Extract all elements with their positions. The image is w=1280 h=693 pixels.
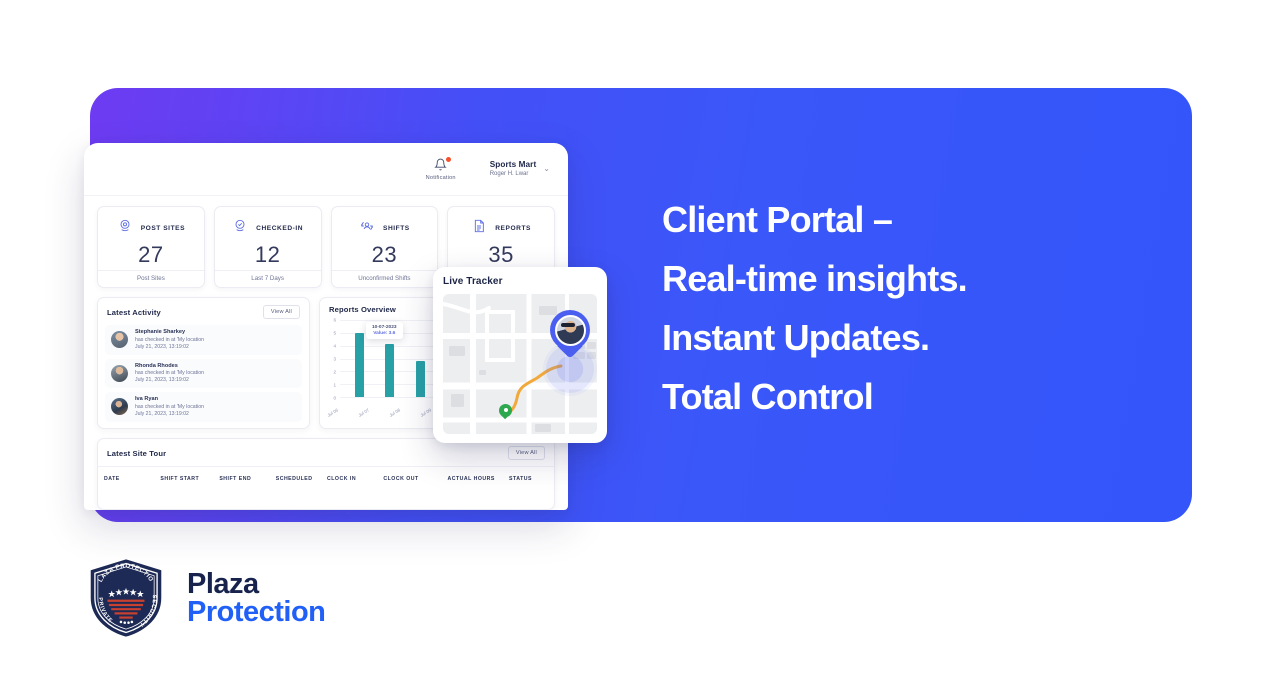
account-user: Roger H. Lwar	[490, 171, 537, 179]
avatar	[111, 331, 128, 348]
plaza-protection-shield-icon: PLAZA PROTECTION PRIVATE SECURITY	[84, 556, 168, 640]
brand-line-1: Plaza	[187, 570, 325, 598]
document-icon	[471, 218, 487, 239]
chart-tooltip: 10-07-2023 Value: 3.6	[366, 322, 403, 339]
account-name: Sports Mart	[490, 160, 537, 170]
y-axis-tick: 5	[333, 330, 336, 335]
latest-site-tour-panel: Latest Site Tour View All DATESHIFT STAR…	[97, 438, 555, 510]
list-item[interactable]: Rhonda Rhodes has checked in at 'My loca…	[105, 359, 302, 389]
activity-name: Rhonda Rhodes	[135, 363, 204, 371]
site-tour-column-header: CLOCK OUT	[383, 476, 447, 482]
site-tour-column-header: STATUS	[509, 476, 550, 482]
stat-footer: Unconfirmed Shifts	[332, 270, 438, 287]
location-pin-icon	[117, 218, 133, 239]
notification-badge-dot	[445, 156, 452, 163]
stat-footer: Last 7 Days	[215, 270, 321, 287]
stat-title: REPORTS	[495, 225, 531, 232]
latest-activity-panel: Latest Activity View All Stephanie Shark…	[97, 297, 310, 429]
x-axis-tick: Jul 06	[326, 407, 339, 417]
latest-activity-title: Latest Activity	[107, 308, 161, 317]
activity-time: July 21, 2023, 13:19:02	[135, 411, 204, 418]
site-tour-column-header: CLOCK IN	[327, 476, 383, 482]
activity-list: Stephanie Sharkey has checked in at 'My …	[98, 325, 309, 422]
brand-lockup: PLAZA PROTECTION PRIVATE SECURITY	[84, 556, 325, 640]
site-tour-column-header: SHIFT END	[219, 476, 275, 482]
site-tour-table-header: DATESHIFT STARTSHIFT ENDSCHEDULEDCLOCK I…	[98, 466, 554, 482]
live-tracker-title: Live Tracker	[443, 276, 597, 287]
y-axis-tick: 2	[333, 369, 336, 374]
tooltip-date: 10-07-2023	[372, 325, 397, 330]
stat-value: 27	[138, 242, 163, 268]
stat-card-post-sites[interactable]: POST SITES 27 Post Sites	[97, 206, 205, 288]
chevron-down-icon[interactable]: ⌄	[543, 165, 550, 173]
y-axis-tick: 3	[333, 357, 336, 362]
chart-bar[interactable]	[385, 344, 394, 397]
tooltip-value: Value: 3.6	[372, 331, 397, 336]
officer-avatar-icon	[555, 315, 586, 346]
reports-overview-title: Reports Overview	[329, 305, 396, 314]
stat-value: 35	[488, 242, 513, 268]
x-axis-tick: Jul 07	[357, 407, 370, 417]
headline-line-1: Client Portal –	[662, 190, 1132, 249]
live-tracker-card: Live Tracker	[433, 267, 607, 443]
stat-title: SHIFTS	[383, 225, 410, 232]
sunglasses-icon	[561, 323, 575, 327]
dashboard-topbar: Notification Sports Mart Roger H. Lwar ⌄	[84, 143, 568, 196]
x-axis-tick: Jul 09	[419, 407, 432, 417]
stat-value: 12	[255, 242, 280, 268]
avatar	[111, 398, 128, 415]
site-tour-column-header: ACTUAL HOURS	[447, 476, 509, 482]
headline-line-3: Instant Updates.	[662, 308, 1132, 367]
site-tour-column-header: DATE	[104, 476, 160, 482]
y-axis-tick: 0	[333, 396, 336, 401]
notification-label: Notification	[418, 175, 464, 181]
y-axis-tick: 4	[333, 343, 336, 348]
bell-icon	[418, 157, 464, 173]
tracker-map[interactable]	[443, 294, 597, 434]
y-axis-tick: 1	[333, 382, 336, 387]
list-item[interactable]: Stephanie Sharkey has checked in at 'My …	[105, 325, 302, 355]
chart-bar[interactable]	[416, 361, 425, 397]
activity-name: Stephanie Sharkey	[135, 329, 204, 337]
check-pin-icon	[232, 218, 248, 239]
y-axis-tick: 6	[333, 318, 336, 323]
green-destination-pin-icon[interactable]	[499, 404, 512, 421]
hero-headline: Client Portal – Real-time insights. Inst…	[662, 190, 1132, 426]
stat-card-shifts[interactable]: SHIFTS 23 Unconfirmed Shifts	[331, 206, 439, 288]
headline-line-2: Real-time insights.	[662, 249, 1132, 308]
avatar	[111, 365, 128, 382]
stat-title: POST SITES	[141, 225, 185, 232]
activity-desc: has checked in at 'My location	[135, 370, 204, 377]
site-tour-column-header: SCHEDULED	[276, 476, 327, 482]
activity-desc: has checked in at 'My location	[135, 404, 204, 411]
user-shift-icon	[359, 218, 375, 239]
chart-bar[interactable]	[355, 333, 364, 397]
list-item[interactable]: Iva Ryan has checked in at 'My location …	[105, 392, 302, 422]
chart-bar-cell[interactable]	[405, 320, 436, 397]
brand-line-2: Protection	[187, 598, 325, 626]
stat-card-checked-in[interactable]: CHECKED-IN 12 Last 7 Days	[214, 206, 322, 288]
activity-time: July 21, 2023, 13:19:02	[135, 377, 204, 384]
brand-text: Plaza Protection	[187, 570, 325, 627]
latest-site-tour-title: Latest Site Tour	[107, 449, 166, 458]
stat-value: 23	[372, 242, 397, 268]
stat-title: CHECKED-IN	[256, 225, 303, 232]
site-tour-column-header: SHIFT START	[160, 476, 219, 482]
stat-footer: Post Sites	[98, 270, 204, 287]
account-menu[interactable]: Sports Mart Roger H. Lwar ⌄	[490, 160, 550, 179]
screenshot-root: Notification Sports Mart Roger H. Lwar ⌄…	[0, 0, 1280, 693]
officer-avatar-pin[interactable]	[550, 310, 590, 358]
activity-time: July 21, 2023, 13:19:02	[135, 344, 204, 351]
activity-name: Iva Ryan	[135, 396, 204, 404]
x-axis-tick: Jul 08	[388, 407, 401, 417]
headline-line-4: Total Control	[662, 367, 1132, 426]
activity-desc: has checked in at 'My location	[135, 337, 204, 344]
activity-view-all-button[interactable]: View All	[263, 305, 300, 319]
site-tour-view-all-button[interactable]: View All	[508, 446, 545, 460]
notification-button[interactable]: Notification	[418, 157, 464, 181]
